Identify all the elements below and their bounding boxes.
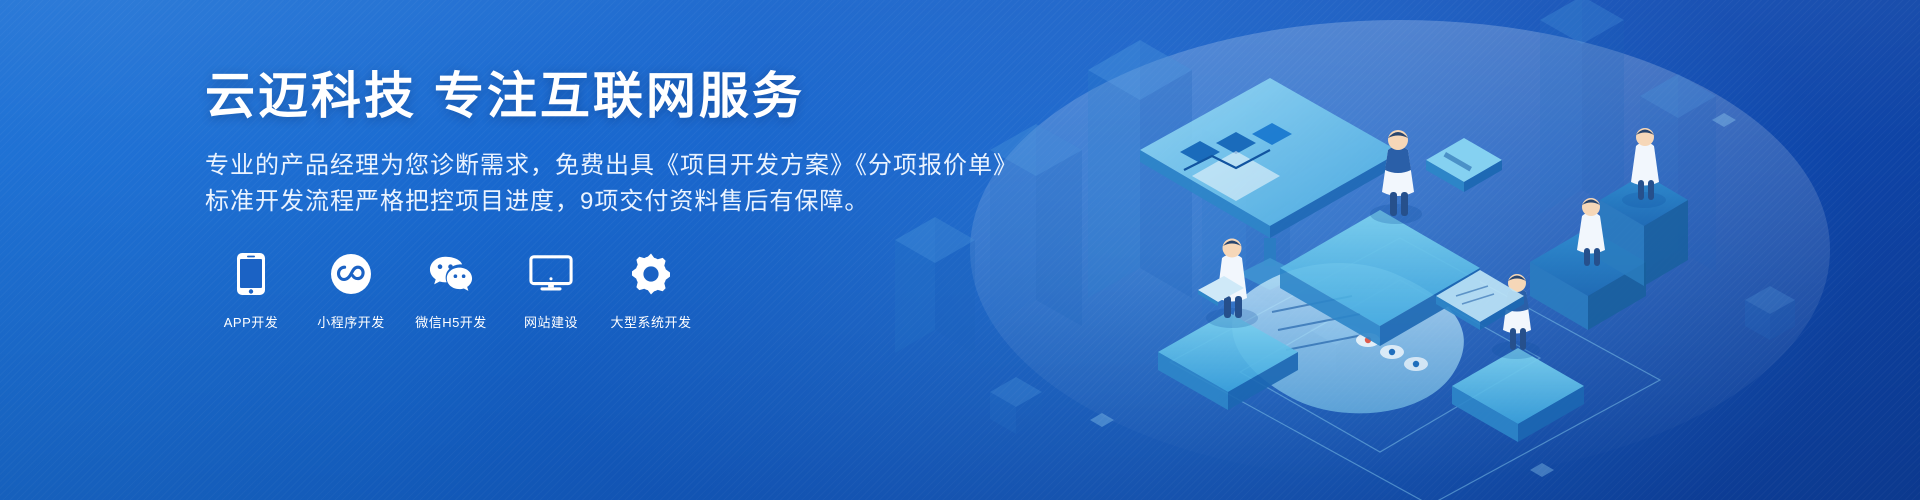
banner-subtitle-line-1: 专业的产品经理为您诊断需求，免费出具《项目开发方案》《分项报价单》 [205,148,965,184]
service-label-wechat-h5: 微信H5开发 [415,312,487,331]
monitor-icon [529,252,573,296]
service-item-mini-program[interactable]: 小程序开发 [323,252,379,331]
service-item-app[interactable]: APP开发 [223,252,279,331]
banner-content: 云迈科技 专注互联网服务 专业的产品经理为您诊断需求，免费出具《项目开发方案》《… [205,66,965,331]
hero-banner: 云迈科技 专注互联网服务 专业的产品经理为您诊断需求，免费出具《项目开发方案》《… [0,0,1920,500]
wechat-icon [429,252,473,296]
banner-subtitle-line-2: 标准开发流程严格把控项目进度，9项交付资料售后有保障。 [205,184,965,220]
mini-program-icon [329,252,373,296]
gear-icon [629,252,673,296]
isometric-illustration [840,0,1920,500]
service-item-website[interactable]: 网站建设 [523,252,579,331]
service-label-large-system: 大型系统开发 [611,312,692,331]
service-item-large-system[interactable]: 大型系统开发 [623,252,679,331]
banner-subtitle: 专业的产品经理为您诊断需求，免费出具《项目开发方案》《分项报价单》 标准开发流程… [205,148,965,220]
service-label-website: 网站建设 [524,312,578,331]
service-label-app: APP开发 [224,312,279,331]
banner-headline: 云迈科技 专注互联网服务 [205,66,965,126]
service-label-mini-program: 小程序开发 [317,312,385,331]
service-item-wechat-h5[interactable]: 微信H5开发 [423,252,479,331]
mobile-phone-icon [229,252,273,296]
service-list: APP开发 小程序开发 [205,252,965,331]
